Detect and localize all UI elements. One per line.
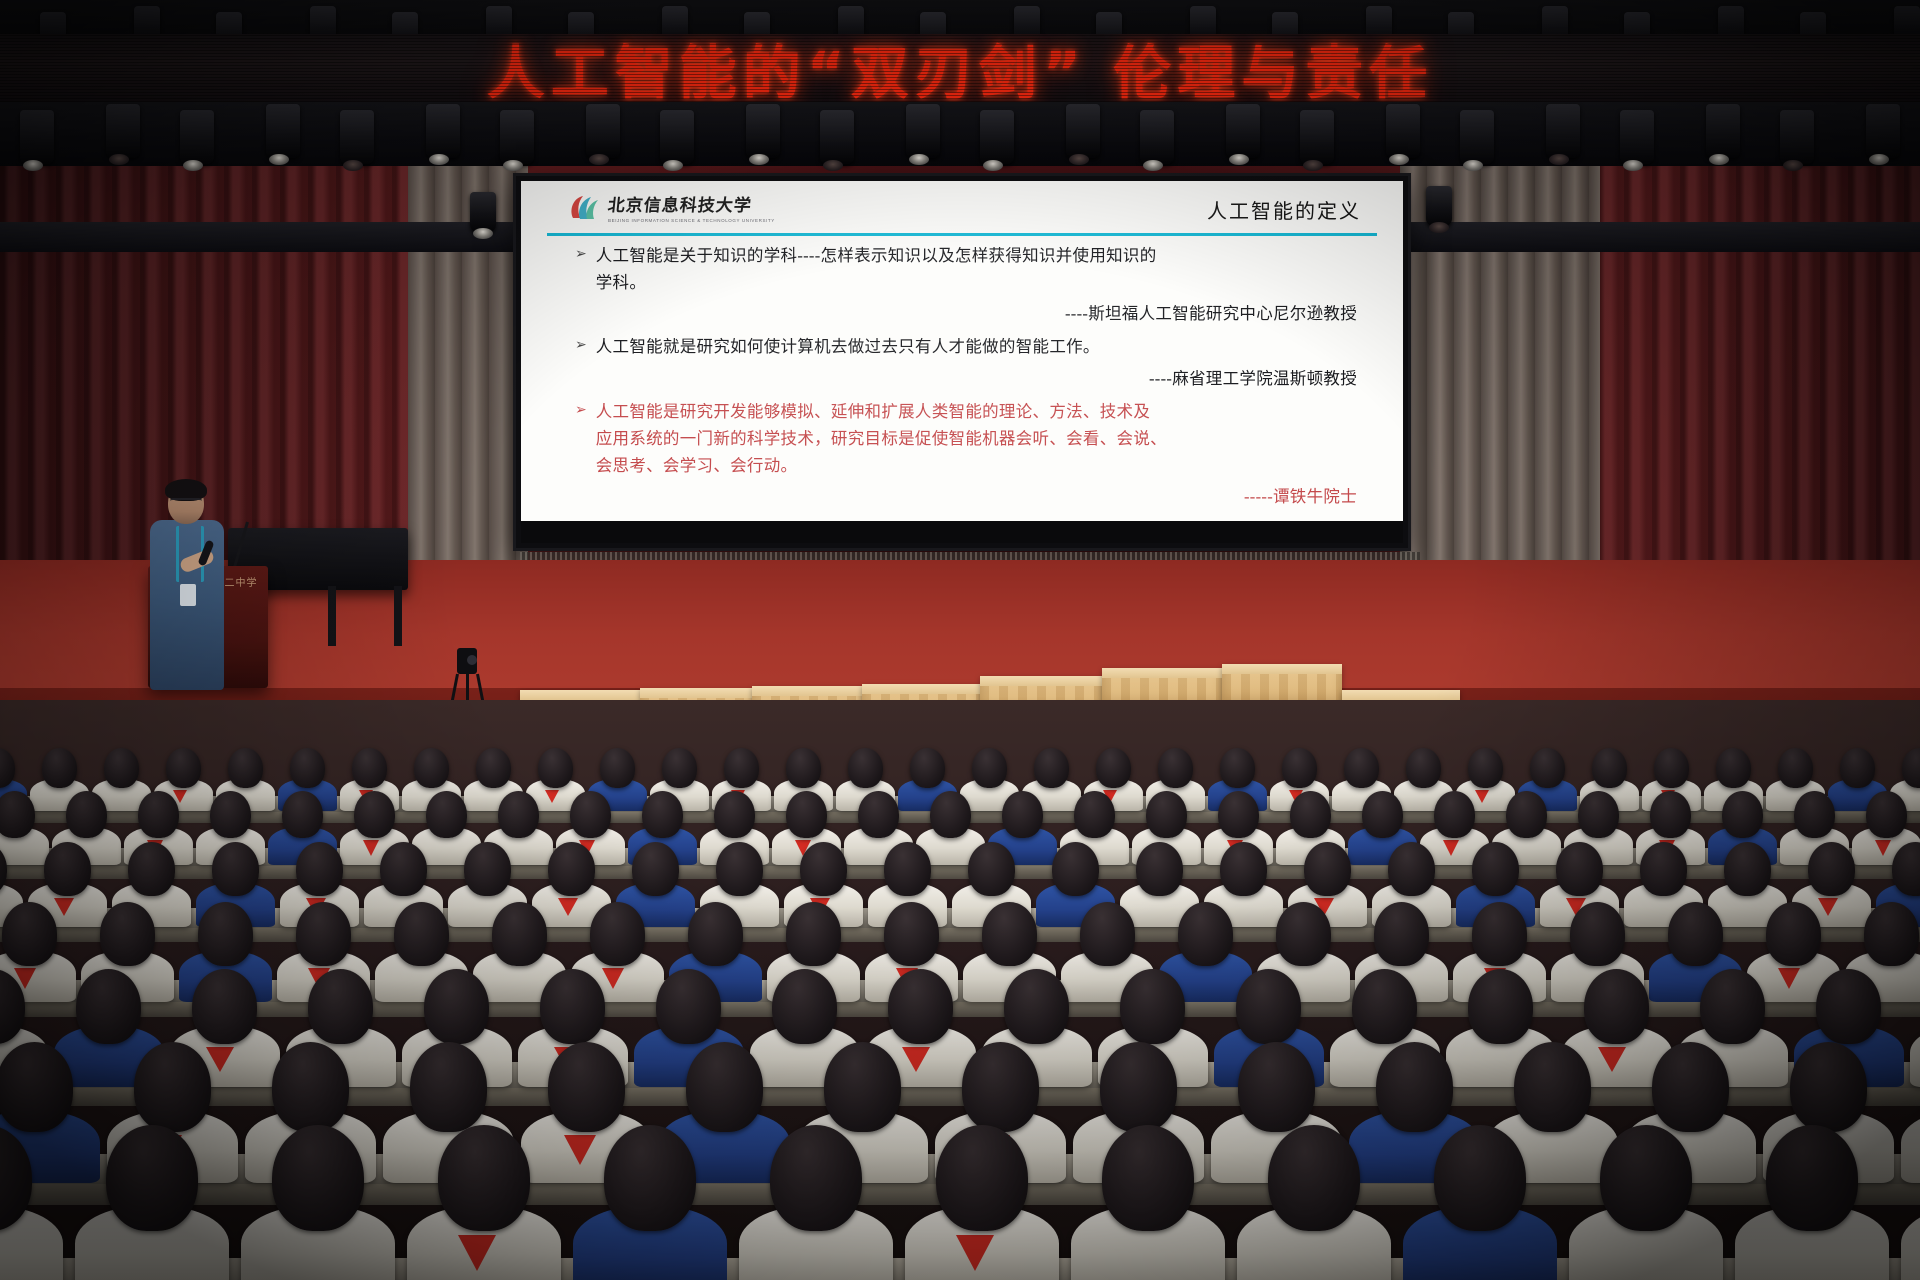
audience-member-head [770, 1125, 862, 1231]
led-banner: 人工智能的“双刃剑” 伦理与责任 [0, 34, 1920, 102]
audience-member-head [228, 748, 263, 788]
audience-member-head [464, 842, 511, 896]
audience-member-head [380, 842, 427, 896]
audience-member-head [1220, 748, 1255, 788]
audience-member-head [1034, 748, 1069, 788]
slide-accent-rule [547, 233, 1377, 236]
audience-member-head [786, 902, 841, 966]
bullet-arrow-icon: ➢ [575, 399, 587, 479]
audience-member-head [800, 842, 847, 896]
bullet-arrow-icon: ➢ [575, 334, 587, 361]
presentation-slide: 北京信息科技大学 BEIJING INFORMATION SCIENCE & T… [521, 181, 1403, 521]
audience-member-head [772, 969, 837, 1045]
red-scarf [564, 1135, 596, 1165]
stage-light-fixture [500, 110, 534, 164]
audience-member-head [1722, 791, 1763, 838]
audience-member-head [716, 842, 763, 896]
audience-member-head [438, 1125, 530, 1231]
audience-member-head [1724, 842, 1771, 896]
audience-member-head [1406, 748, 1441, 788]
stage-light-fixture [20, 110, 54, 164]
audience-member-head [1236, 969, 1301, 1045]
bullet-text: 人工智能是研究开发能够模拟、延伸和扩展人类智能的理论、方法、技术及应用系统的一门… [596, 399, 1167, 479]
audience-member-head [1472, 902, 1527, 966]
audience-member-head [848, 748, 883, 788]
projection-screen: 北京信息科技大学 BEIJING INFORMATION SCIENCE & T… [516, 176, 1408, 548]
red-scarf [1778, 968, 1800, 989]
audience-member-head [76, 969, 141, 1045]
audience-member-head [1766, 1125, 1858, 1231]
red-scarf [458, 1235, 496, 1271]
audience-member-head [724, 748, 759, 788]
bullet-line: 学科。 [596, 270, 1157, 297]
audience-member-head [42, 748, 77, 788]
audience-member-head [884, 842, 931, 896]
audience-member-head [1808, 842, 1855, 896]
audience-member-head [1700, 969, 1765, 1045]
slide-body: ➢人工智能是关于知识的学科----怎样表示知识以及怎样获得知识并使用知识的学科。… [521, 243, 1403, 517]
audience-member-head [192, 969, 257, 1045]
audience-member-head [106, 1125, 198, 1231]
audience-member-head [786, 791, 827, 838]
audience-member-head [1584, 969, 1649, 1045]
audience-member-head [1178, 902, 1233, 966]
audience-member-head [1434, 791, 1475, 838]
audience-member-head [540, 969, 605, 1045]
red-scarf [956, 1235, 994, 1271]
audience-member-head [272, 1125, 364, 1231]
bullet-text: 人工智能就是研究如何使计算机去做过去只有人才能做的智能工作。 [596, 334, 1100, 361]
audience-member-head [1668, 902, 1723, 966]
stage-light-fixture [1706, 104, 1740, 158]
audience-member-head [1654, 748, 1689, 788]
audience-member-head [100, 902, 155, 966]
audience-member-head [1120, 969, 1185, 1045]
audience-member-head [1352, 969, 1417, 1045]
audience-member-head [44, 842, 91, 896]
audience-member-head [1592, 748, 1627, 788]
audience-member-head [296, 842, 343, 896]
audience-member-head [1276, 902, 1331, 966]
audience-member-head [642, 791, 683, 838]
slide-header: 北京信息科技大学 BEIJING INFORMATION SCIENCE & T… [521, 181, 1403, 229]
audience-member-head [0, 1042, 73, 1132]
audience-member-head [212, 842, 259, 896]
audience-member-head [632, 842, 679, 896]
stage-light-fixture [1780, 110, 1814, 164]
stage-light-fixture [340, 110, 374, 164]
audience-member-head [1304, 842, 1351, 896]
audience-member-head [1556, 842, 1603, 896]
audience-member-head [1238, 1042, 1316, 1132]
audience-member-head [936, 1125, 1028, 1231]
bullet-attribution: ----斯坦福人工智能研究中心尼尔逊教授 [575, 300, 1357, 324]
red-scarf [902, 1047, 930, 1072]
audience-member-head [930, 791, 971, 838]
bullet-line: 会思考、会学习、会行动。 [596, 453, 1167, 480]
audience-member-head [166, 748, 201, 788]
audience-member-head [1778, 748, 1813, 788]
audience-member-head [1136, 842, 1183, 896]
audience-member-head [1600, 1125, 1692, 1231]
audience-member-head [962, 1042, 1040, 1132]
bullet-arrow-icon: ➢ [575, 243, 587, 296]
stage-light-fixture [820, 110, 854, 164]
bullet-attribution: -----谭铁牛院士 [575, 483, 1357, 507]
red-scarf [558, 898, 578, 916]
audience-member-head [1434, 1125, 1526, 1231]
audience-member-head [1840, 748, 1875, 788]
audience-member-head [66, 791, 107, 838]
presenter-glasses-icon [170, 498, 202, 509]
audience-member-head [1220, 842, 1267, 896]
audience-member-head [1004, 969, 1069, 1045]
audience-member-head [492, 902, 547, 966]
audience-member-head [104, 748, 139, 788]
audience-member-head [394, 902, 449, 966]
audience-member-head [1268, 1125, 1360, 1231]
bullet-line: 人工智能是关于知识的学科----怎样表示知识以及怎样获得知识并使用知识的 [596, 243, 1157, 270]
audience-member-head [982, 902, 1037, 966]
lighting-rig-mid [0, 104, 1920, 164]
stage-light-fixture [1140, 110, 1174, 164]
audience-member-head [1052, 842, 1099, 896]
bullet-line: 人工智能就是研究如何使计算机去做过去只有人才能做的智能工作。 [596, 334, 1100, 361]
audience-member-head [910, 748, 945, 788]
audience-member-head [1218, 791, 1259, 838]
audience-member-head [290, 748, 325, 788]
audience-member-head [1640, 842, 1687, 896]
stage-light-fixture [906, 104, 940, 158]
audience-member-head [656, 969, 721, 1045]
audience-member-head [1766, 902, 1821, 966]
audience-member-head [570, 791, 611, 838]
audience-member-head [0, 791, 35, 838]
camera-body [457, 648, 477, 674]
audience-member-head [1374, 902, 1429, 966]
slide-bullet: ➢人工智能就是研究如何使计算机去做过去只有人才能做的智能工作。 [575, 334, 1363, 361]
stage-light-fixture [1620, 110, 1654, 164]
audience-member-head [604, 1125, 696, 1231]
audience-member-head [1794, 791, 1835, 838]
presenter [150, 482, 224, 690]
audience-member-head [1074, 791, 1115, 838]
audience-member-head [414, 748, 449, 788]
audience-member-head [686, 1042, 764, 1132]
audience-member-head [426, 791, 467, 838]
audience-member-head [1158, 748, 1193, 788]
audience-member-head [128, 842, 175, 896]
stage-light-fixture [1546, 104, 1580, 158]
stage-light-fixture [1426, 186, 1452, 226]
audience-member-head [1472, 842, 1519, 896]
audience-member-head [548, 842, 595, 896]
screen-bezel-bottom [521, 521, 1403, 543]
audience-member-head [1506, 791, 1547, 838]
red-scarf [1818, 898, 1838, 916]
auditorium-scene: 人工智能的“双刃剑” 伦理与责任 北京信息科技大学 BEIJING I [0, 0, 1920, 1280]
audience-member-head [296, 902, 351, 966]
audience-member-head [1866, 791, 1907, 838]
audience-member-head [198, 902, 253, 966]
audience-member-head [688, 902, 743, 966]
audience-member-head [1362, 791, 1403, 838]
red-scarf [1875, 840, 1891, 856]
audience-member-head [308, 969, 373, 1045]
logo-text-en: BEIJING INFORMATION SCIENCE & TECHNOLOGY… [608, 218, 775, 223]
stage-light-fixture [1460, 110, 1494, 164]
red-scarf [602, 968, 624, 989]
audience-member-head [1816, 969, 1881, 1045]
audience-member-head [1514, 1042, 1592, 1132]
bullet-line: 人工智能是研究开发能够模拟、延伸和扩展人类智能的理论、方法、技术及 [596, 399, 1167, 426]
audience-member-head [972, 748, 1007, 788]
audience-member-head [888, 969, 953, 1045]
stage-light-fixture [586, 104, 620, 158]
audience-member-head [1344, 748, 1379, 788]
camera-lens-icon [467, 655, 477, 665]
bullet-text: 人工智能是关于知识的学科----怎样表示知识以及怎样获得知识并使用知识的学科。 [596, 243, 1157, 296]
desk-front-panel [0, 866, 1920, 879]
led-banner-text: 人工智能的“双刃剑” 伦理与责任 [0, 34, 1920, 102]
audience-member-head [1570, 902, 1625, 966]
stage-light-fixture [180, 110, 214, 164]
bullet-line: 应用系统的一门新的科学技术，研究目标是促使智能机器会听、会看、会说、 [596, 426, 1167, 453]
audience-member-head [1282, 748, 1317, 788]
slide-bullet: ➢人工智能是关于知识的学科----怎样表示知识以及怎样获得知识并使用知识的学科。 [575, 243, 1363, 296]
red-scarf [1443, 840, 1459, 856]
audience-member-head [282, 791, 323, 838]
audience-member-head [210, 791, 251, 838]
audience-member-head [1388, 842, 1435, 896]
audience-member-head [858, 791, 899, 838]
audience-member-head [138, 791, 179, 838]
audience-member-head [1100, 1042, 1178, 1132]
audience-member-head [134, 1042, 212, 1132]
audience-member-head [1096, 748, 1131, 788]
audience-member-head [410, 1042, 488, 1132]
audience-member-head [2, 902, 57, 966]
stage-light-fixture [660, 110, 694, 164]
university-logo: 北京信息科技大学 BEIJING INFORMATION SCIENCE & T… [567, 191, 775, 223]
audience-member-head [714, 791, 755, 838]
stage-light-fixture [1066, 104, 1100, 158]
stage-light-fixture [1226, 104, 1260, 158]
audience-member-head [548, 1042, 626, 1132]
red-scarf [363, 840, 379, 856]
audience-member-head [354, 791, 395, 838]
audience-member-head [352, 748, 387, 788]
stage-light-fixture [106, 104, 140, 158]
stage-light-fixture [470, 192, 496, 232]
red-scarf [206, 1047, 234, 1072]
audience-member-head [1652, 1042, 1730, 1132]
audience-member-head [590, 902, 645, 966]
red-scarf [54, 898, 74, 916]
slide-title: 人工智能的定义 [1207, 195, 1361, 224]
audience-member-head [1002, 791, 1043, 838]
audience-member-head [1146, 791, 1187, 838]
audience-member-head [786, 748, 821, 788]
audience-member-head [498, 791, 539, 838]
logo-mark-icon [567, 192, 601, 222]
audience-member-head [1864, 902, 1919, 966]
audience-member-head [1290, 791, 1331, 838]
audience-member-head [538, 748, 573, 788]
audience-member-head [968, 842, 1015, 896]
desk-front-panel [0, 928, 1920, 942]
audience-member-head [1468, 969, 1533, 1045]
bullet-attribution: ----麻省理工学院温斯顿教授 [575, 365, 1357, 389]
audience-member-head [1102, 1125, 1194, 1231]
audience-member-head [272, 1042, 350, 1132]
audience-member-head [1650, 791, 1691, 838]
stage-light-fixture [1300, 110, 1334, 164]
stage-light-fixture [1386, 104, 1420, 158]
red-scarf [545, 790, 559, 803]
audience-member-head [1080, 902, 1135, 966]
audience-member-head [824, 1042, 902, 1132]
presenter-badge [180, 584, 196, 606]
stage-light-fixture [1866, 104, 1900, 158]
audience-member-head [1716, 748, 1751, 788]
logo-text-cn: 北京信息科技大学 [607, 191, 777, 216]
audience-member-head [1790, 1042, 1868, 1132]
audience-member-head [662, 748, 697, 788]
red-scarf [1598, 1047, 1626, 1072]
stage-light-fixture [980, 110, 1014, 164]
stage-light-fixture [426, 104, 460, 158]
audience-member-head [600, 748, 635, 788]
audience-member-head [1578, 791, 1619, 838]
audience-member-head [1468, 748, 1503, 788]
slide-bullet: ➢人工智能是研究开发能够模拟、延伸和扩展人类智能的理论、方法、技术及应用系统的一… [575, 399, 1363, 479]
audience-member-head [1376, 1042, 1454, 1132]
stage-light-fixture [266, 104, 300, 158]
audience-member-head [1530, 748, 1565, 788]
red-scarf [1475, 790, 1489, 803]
stage-light-fixture [746, 104, 780, 158]
audience-member-head [884, 902, 939, 966]
audience-member-head [476, 748, 511, 788]
audience-member-head [424, 969, 489, 1045]
